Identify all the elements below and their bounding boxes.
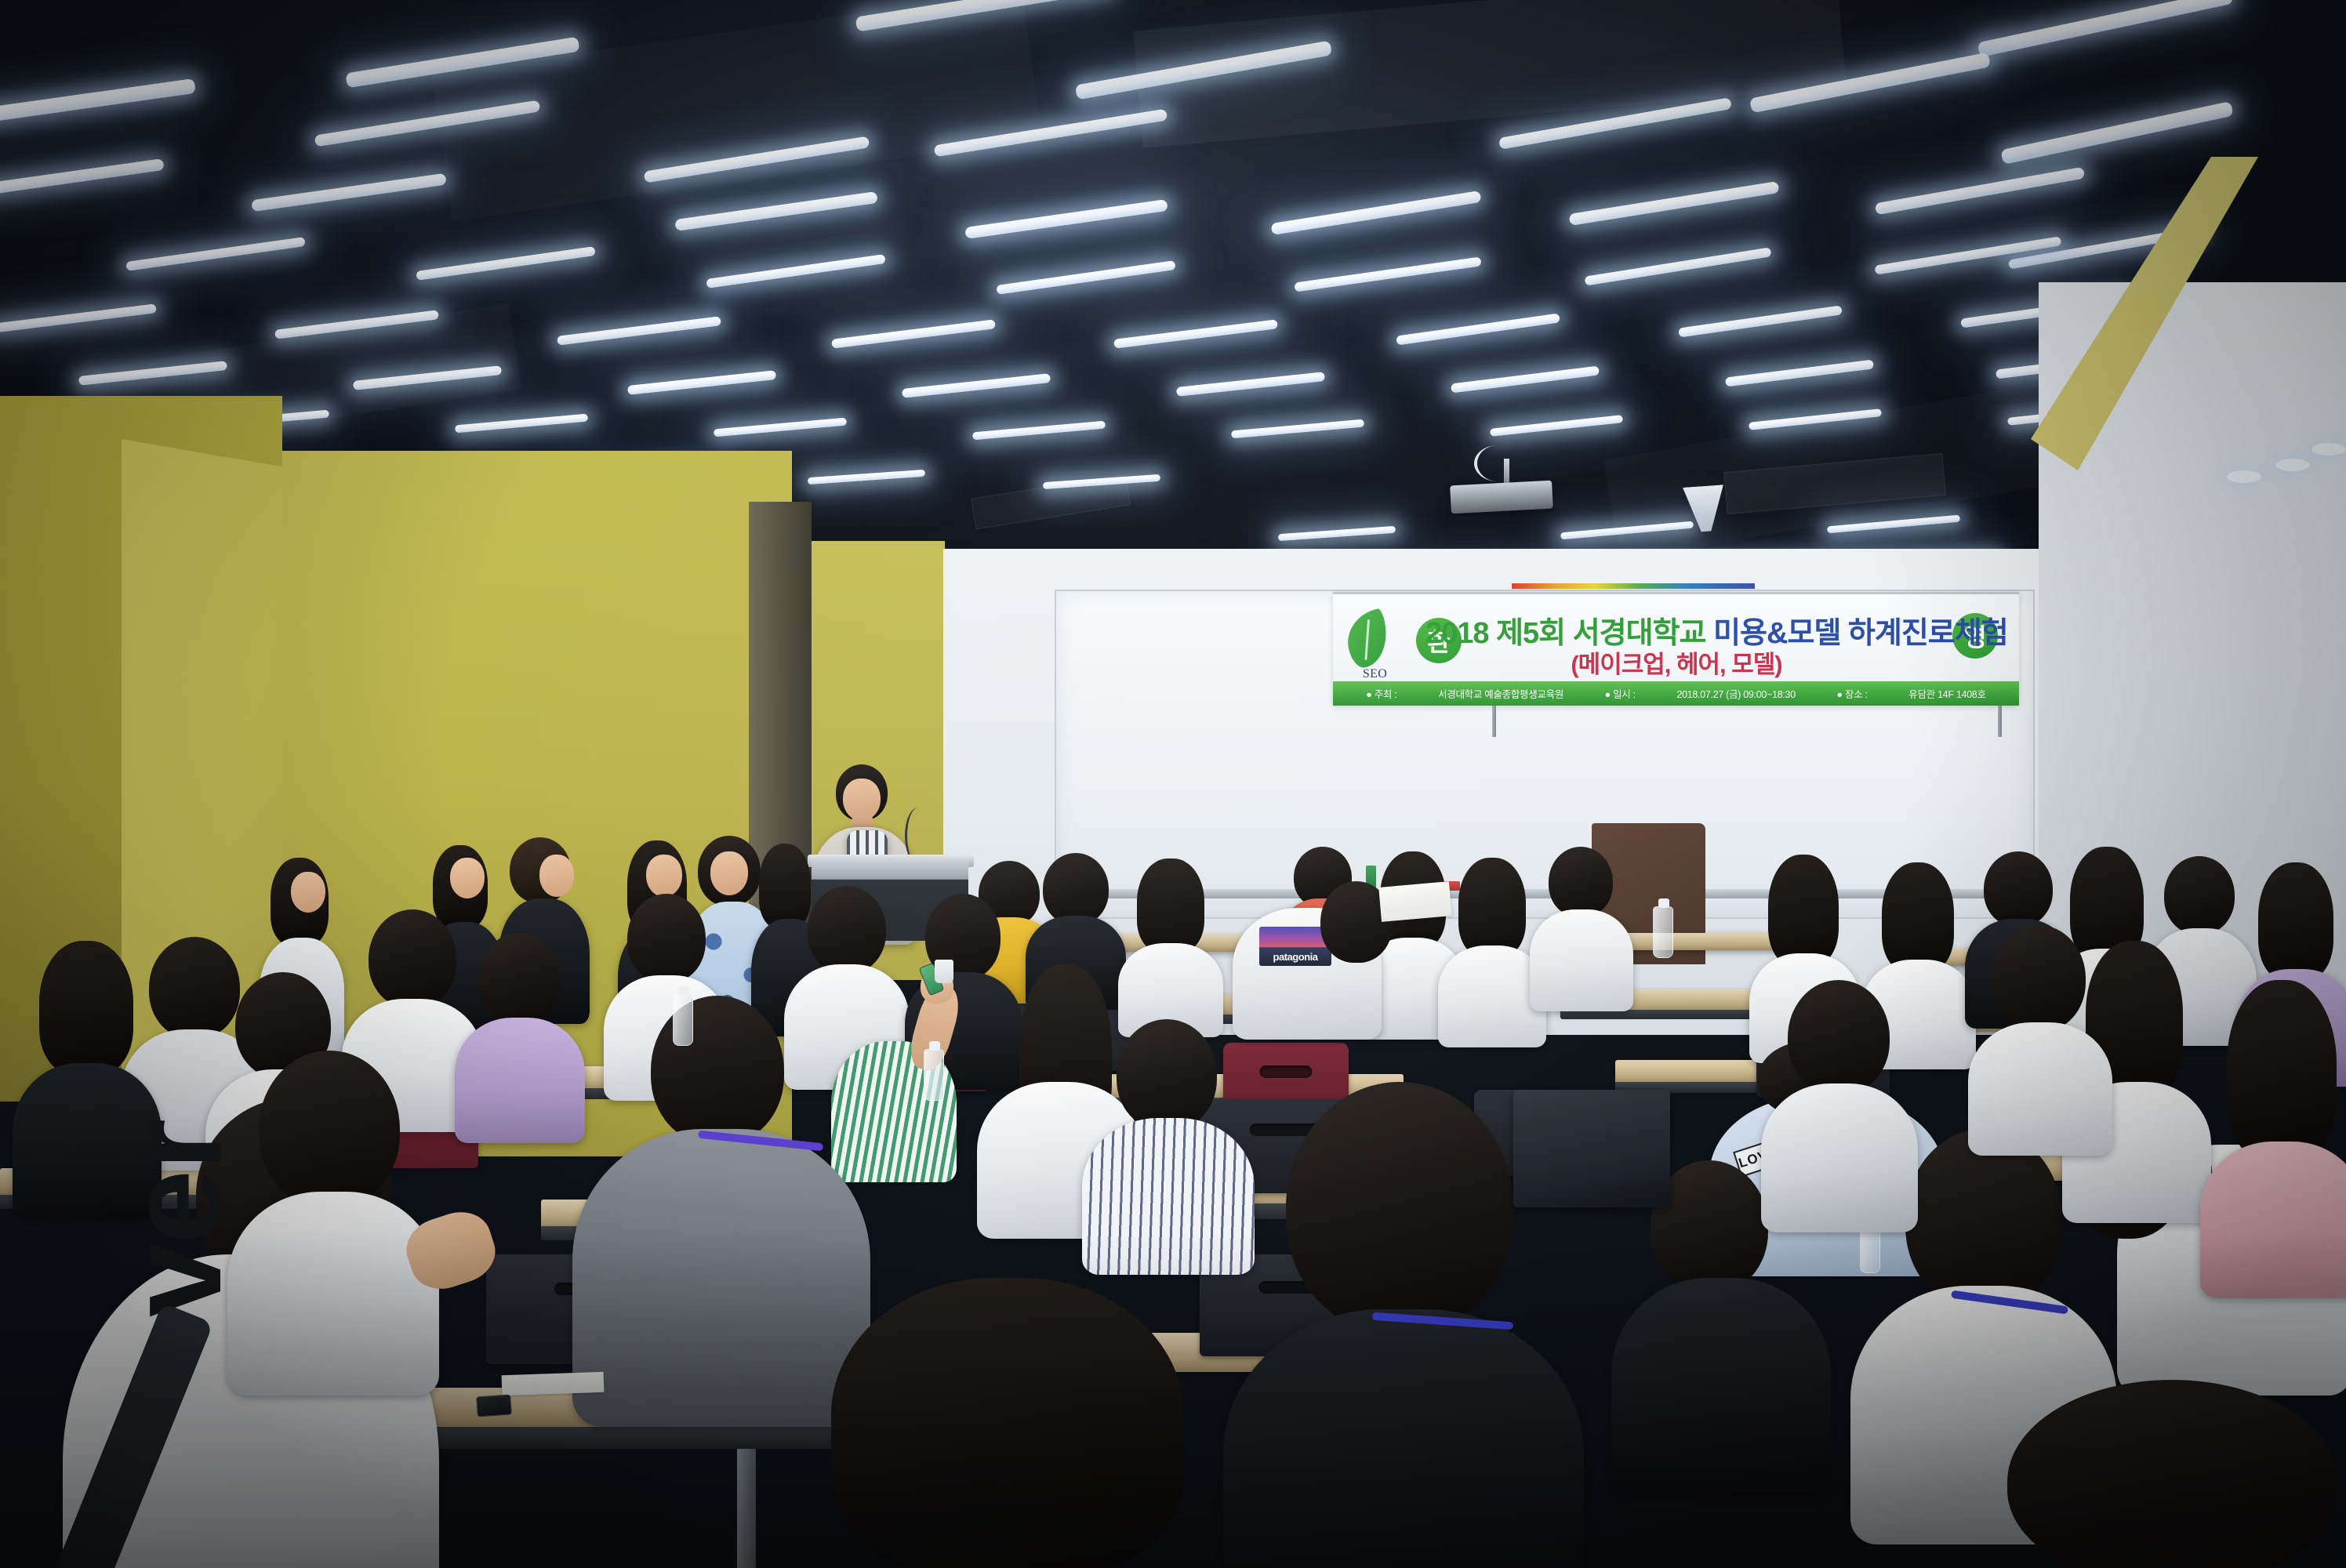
hair <box>1905 1129 2062 1309</box>
water-bottle[interactable] <box>1653 906 1673 958</box>
torso <box>1761 1083 1918 1232</box>
banner-place-label: ● 장소 : <box>1836 686 1867 701</box>
torso <box>1082 1118 1255 1275</box>
recessed-light <box>2311 443 2346 456</box>
patagonia-text: patagonia <box>1259 951 1331 963</box>
hair <box>2258 862 2333 980</box>
hair <box>1768 855 1839 966</box>
hair <box>2007 1380 2337 1568</box>
recessed-light <box>2275 459 2310 471</box>
hair <box>1788 980 1890 1094</box>
banner-place-value: 유담관 14F 1408호 <box>1908 686 1985 701</box>
hair <box>2164 856 2235 935</box>
hair <box>259 1051 400 1207</box>
hair <box>2227 980 2337 1160</box>
torso <box>227 1192 439 1396</box>
torso <box>1611 1278 1831 1497</box>
hair <box>1117 1019 1217 1131</box>
hair <box>627 894 706 983</box>
hair <box>808 886 886 974</box>
chair-handle-slot <box>1259 1065 1312 1078</box>
torso <box>1530 909 1633 1011</box>
presenter-face <box>843 779 881 821</box>
banner-date-label: ● 일시 : <box>1605 686 1636 701</box>
banner-host-value: 서경대학교 예술종합평생교육원 <box>1438 686 1563 701</box>
handout[interactable] <box>502 1372 605 1396</box>
banner-host-label: ● 주최 : <box>1366 686 1396 701</box>
water-bottle[interactable] <box>924 1049 944 1101</box>
hair <box>478 933 560 1025</box>
banner-subtitle: (메이크업, 헤어, 모델) <box>1425 644 1927 680</box>
banner-support-leg <box>1998 706 2002 737</box>
event-banner: SEO KYEONG UNIVERSITY 환 영 2018 제5회 서경대학교… <box>1333 592 2019 706</box>
phone[interactable] <box>476 1394 512 1417</box>
hair <box>1043 853 1109 925</box>
torso <box>572 1129 870 1427</box>
hair <box>1286 1082 1513 1333</box>
torso <box>2200 1142 2346 1298</box>
leaf-icon <box>1342 608 1393 670</box>
hair <box>1992 925 2086 1032</box>
projector-cable <box>1474 445 1521 481</box>
hair <box>651 996 784 1145</box>
hair <box>149 937 240 1039</box>
hair <box>759 844 811 928</box>
paper-cup[interactable] <box>935 960 953 983</box>
torso <box>1223 1309 1584 1568</box>
hair <box>39 941 133 1074</box>
recessed-light <box>2227 470 2261 483</box>
torso <box>1968 1022 2112 1156</box>
face <box>450 858 485 898</box>
torso <box>455 1018 585 1143</box>
banner-support-leg <box>1492 706 1496 737</box>
hair <box>831 1278 1184 1568</box>
ceiling-projector <box>1450 481 1553 514</box>
face <box>539 855 574 897</box>
handout[interactable] <box>1378 881 1451 922</box>
face <box>710 851 748 895</box>
tote-bag[interactable] <box>1513 1090 1670 1207</box>
hair <box>1984 851 2053 927</box>
lecture-hall-photo: SEO KYEONG UNIVERSITY 환 영 2018 제5회 서경대학교… <box>0 0 2346 1568</box>
face <box>646 855 682 897</box>
hair <box>1549 847 1613 917</box>
hair <box>1882 862 1954 972</box>
banner-date-value: 2018.07.27 (금) 09:00~18:30 <box>1676 686 1795 701</box>
hair <box>1458 858 1526 956</box>
hair <box>369 909 456 1008</box>
banner-rainbow-bar <box>1512 583 1755 589</box>
banner-info-strip: ● 주최 : 서경대학교 예술종합평생교육원 ● 일시 : 2018.07.27… <box>1333 681 2019 706</box>
face <box>291 872 325 913</box>
hair <box>1137 858 1204 953</box>
desk-leg <box>737 1449 756 1568</box>
water-bottle[interactable] <box>673 994 693 1046</box>
